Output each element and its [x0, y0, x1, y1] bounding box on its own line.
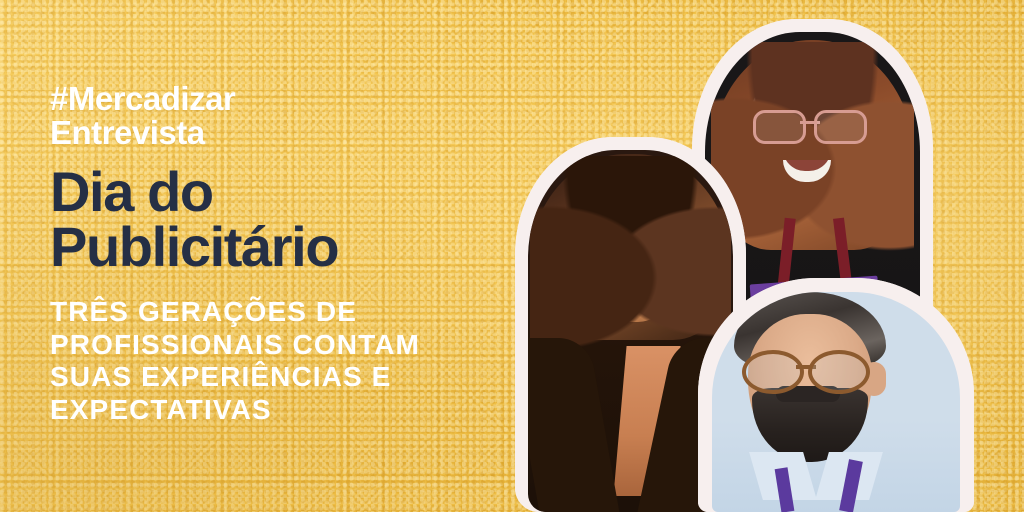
- page-title: Dia do Publicitário: [50, 164, 420, 274]
- subtitle-line-1: TRÊS GERAÇÕES DE: [50, 296, 420, 329]
- eyeglasses-icon: [742, 350, 870, 388]
- subtitle: TRÊS GERAÇÕES DE PROFISSIONAIS CONTAM SU…: [50, 296, 420, 426]
- text-block: #Mercadizar Entrevista Dia do Publicitár…: [50, 82, 420, 426]
- photo-bearded-man: [712, 292, 960, 512]
- subtitle-line-2: PROFISSIONAIS CONTAM: [50, 329, 420, 362]
- headline-line-2: Publicitário: [50, 219, 420, 274]
- kicker-line-2: Entrevista: [50, 116, 420, 150]
- subtitle-line-4: EXPECTATIVAS: [50, 394, 420, 427]
- kicker: #Mercadizar Entrevista: [50, 82, 420, 150]
- subtitle-line-3: SUAS EXPERIÊNCIAS E: [50, 361, 420, 394]
- promo-graphic: ULBRA STIBULAR 2024: [0, 0, 1024, 512]
- kicker-line-1: #Mercadizar: [50, 82, 420, 116]
- headline-line-1: Dia do: [50, 164, 420, 219]
- cutout-photo-bearded-man: [712, 292, 960, 512]
- eyeglasses-icon: [753, 110, 867, 140]
- hair-front-strands: [530, 156, 731, 366]
